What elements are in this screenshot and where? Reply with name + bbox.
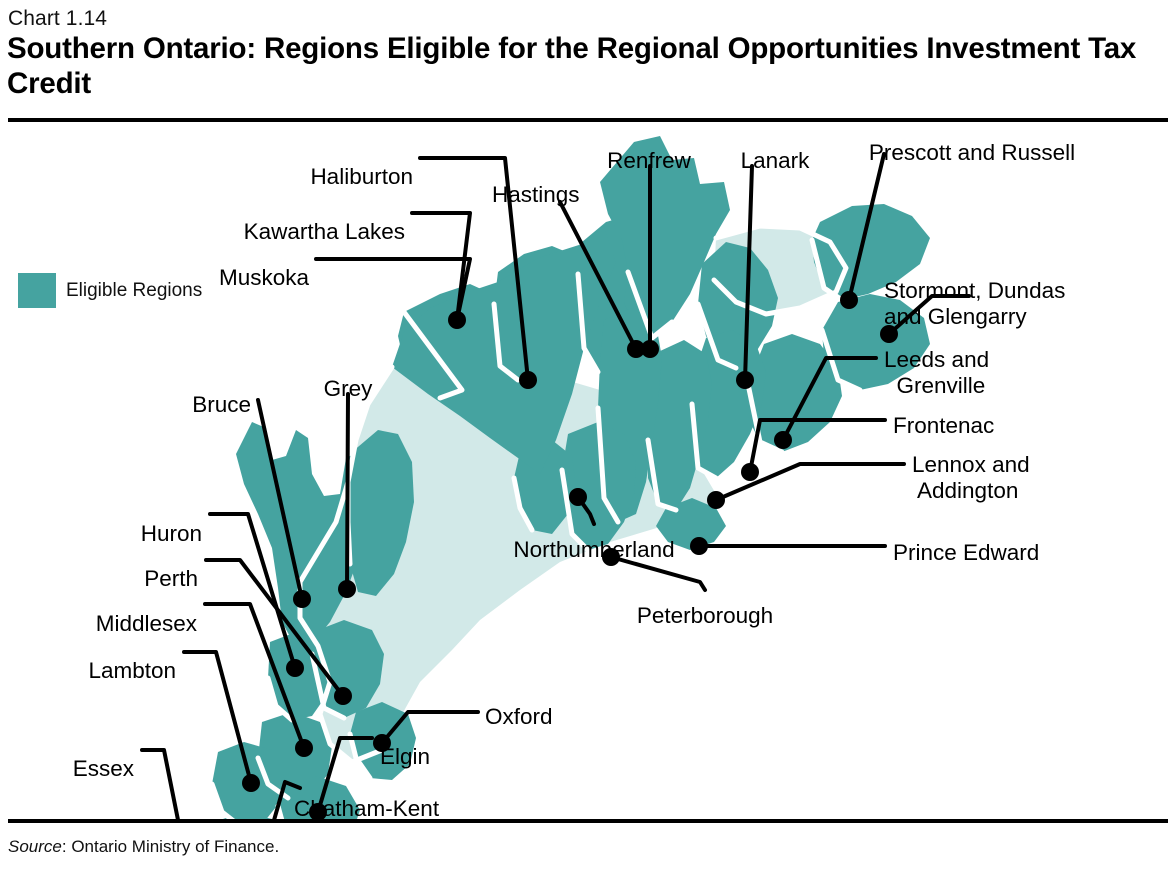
legend-swatch-eligible (18, 273, 56, 308)
map-label-northumberland: Northumberland (513, 537, 674, 563)
map-label-prescott-and-russell: Prescott and Russell (869, 140, 1075, 166)
map-label-frontenac: Frontenac (893, 413, 994, 439)
map-label-prince-edward: Prince Edward (893, 540, 1039, 566)
map-label-elgin: Elgin (380, 744, 430, 770)
map-label-peterborough: Peterborough (637, 603, 773, 629)
map-label-hastings: Hastings (492, 182, 580, 208)
map-label-lennox-and-addington: Lennox and Addington (912, 452, 1030, 504)
map-label-essex: Essex (73, 756, 134, 782)
map-label-haliburton: Haliburton (310, 164, 413, 190)
chart-number: Chart 1.14 (8, 6, 107, 32)
map-label-muskoka: Muskoka (219, 265, 309, 291)
source-text: : Ontario Ministry of Finance. (62, 837, 279, 856)
map-label-oxford: Oxford (485, 704, 553, 730)
map-label-middlesex: Middlesex (96, 611, 197, 637)
map-label-kawartha-lakes: Kawartha Lakes (244, 219, 405, 245)
map-label-stormont-dundas-and-glengarry: Stormont, Dundas and Glengarry (884, 278, 1065, 330)
map-label-lambton: Lambton (88, 658, 176, 684)
legend-label-eligible: Eligible Regions (66, 280, 202, 302)
source-prefix: Source (8, 837, 62, 856)
map-label-leeds-and-grenville: Leeds and Grenville (884, 347, 989, 399)
map-label-lanark: Lanark (741, 148, 810, 174)
chart-figure: Chart 1.14 Southern Ontario: Regions Eli… (0, 0, 1176, 870)
map-label-bruce: Bruce (192, 392, 251, 418)
bottom-rule (8, 819, 1168, 823)
source-note: Source: Ontario Ministry of Finance. (8, 836, 279, 858)
map-label-grey: Grey (324, 376, 373, 402)
map-label-perth: Perth (144, 566, 198, 592)
map-container: HaliburtonKawartha LakesMuskokaHastingsR… (0, 122, 1176, 819)
map-label-layer: HaliburtonKawartha LakesMuskokaHastingsR… (0, 122, 1176, 819)
map-label-renfrew: Renfrew (607, 148, 691, 174)
legend: Eligible Regions (18, 273, 202, 308)
chart-title: Southern Ontario: Regions Eligible for t… (7, 31, 1167, 101)
map-label-huron: Huron (141, 521, 202, 547)
